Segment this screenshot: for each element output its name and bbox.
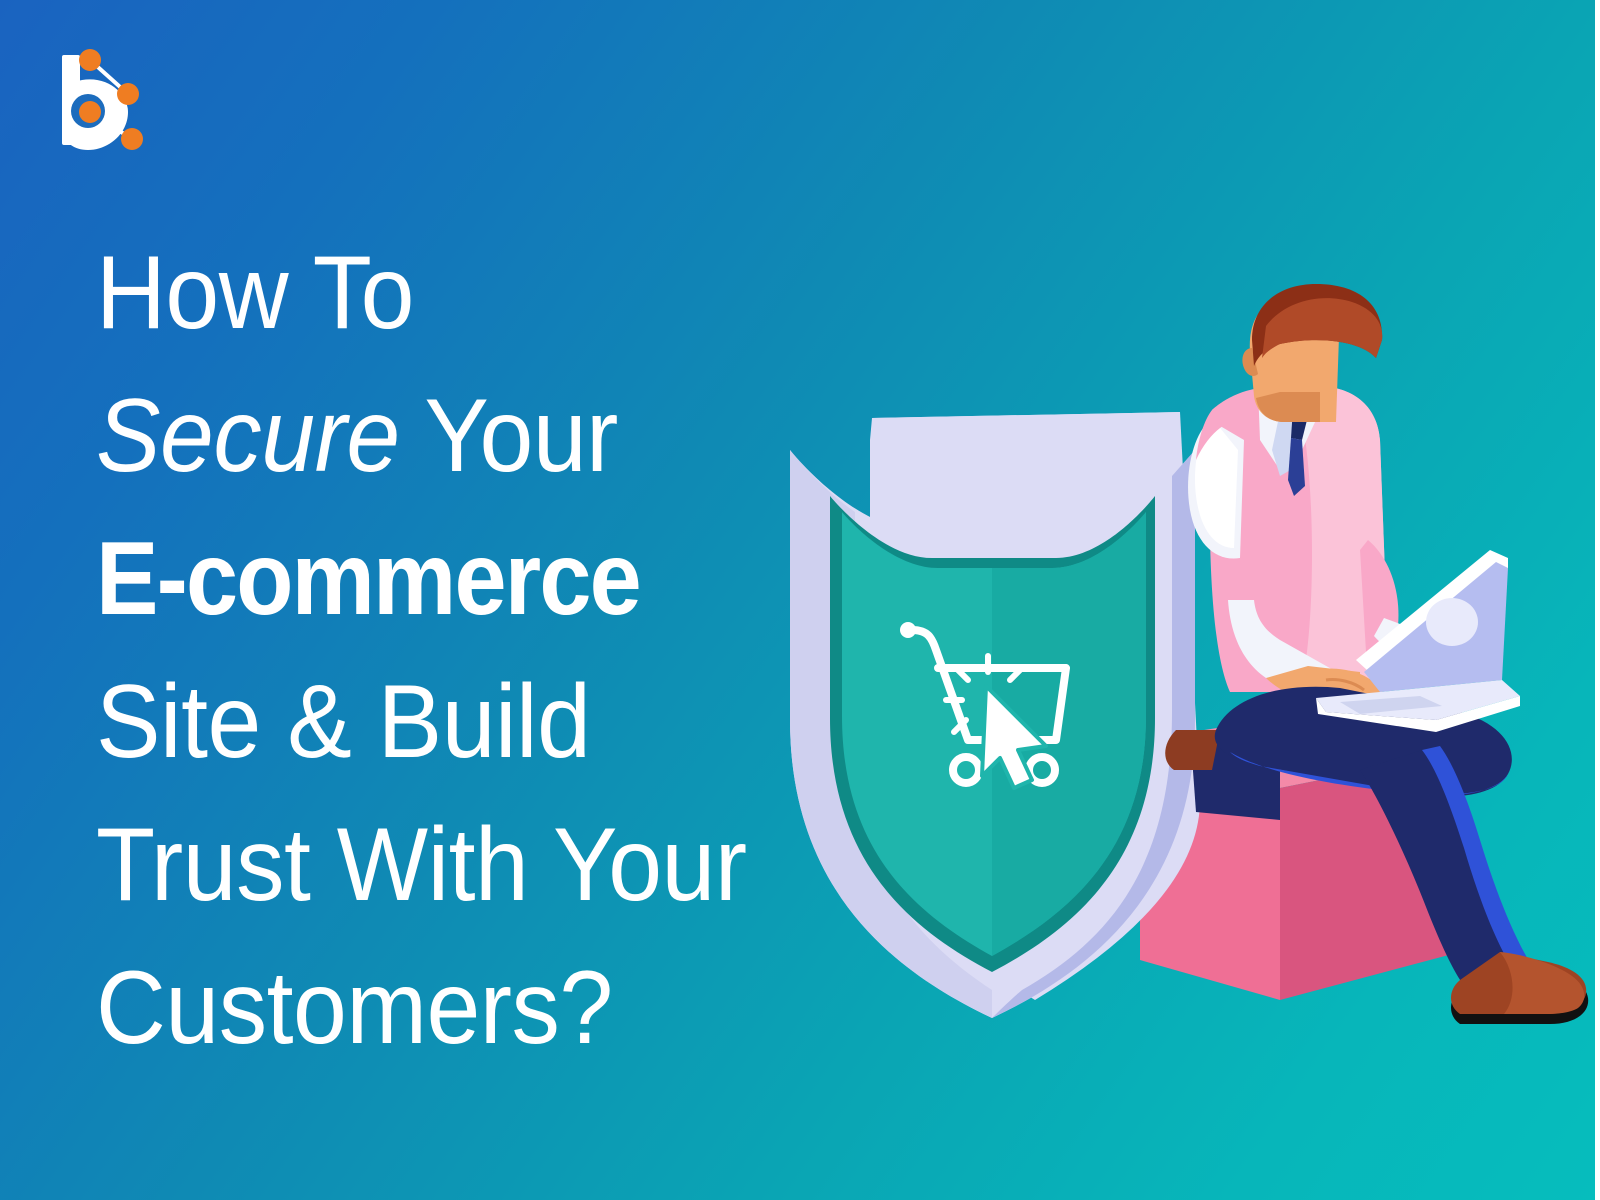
headline-line-4: Site & Build (96, 651, 766, 794)
headline-line-2-suffix: Your (400, 378, 618, 494)
headline-line-5-text: Trust With Your (96, 807, 747, 923)
headline-line-4-text: Site & Build (96, 664, 590, 780)
banner-canvas: How To Secure Your E-commerce Site & Bui… (0, 0, 1600, 1200)
headline-block: How To Secure Your E-commerce Site & Bui… (96, 222, 816, 1080)
canvas-right-edge (1595, 0, 1600, 1200)
headline-line-1: How To (96, 222, 766, 365)
headline-line-6-text: Customers? (96, 950, 613, 1066)
secure-ecommerce-illustration (760, 300, 1600, 1020)
headline-strong-ecommerce: E-commerce (96, 521, 640, 637)
headline-line-6: Customers? (96, 937, 766, 1080)
headline-line-2: Secure Your (96, 365, 766, 508)
headline-line-1-text: How To (96, 235, 414, 351)
brand-b-network-logo[interactable] (52, 40, 162, 160)
headline-line-5: Trust With Your (96, 794, 766, 937)
headline-line-3: E-commerce (96, 508, 744, 651)
headline-emphasis-secure: Secure (96, 378, 400, 494)
